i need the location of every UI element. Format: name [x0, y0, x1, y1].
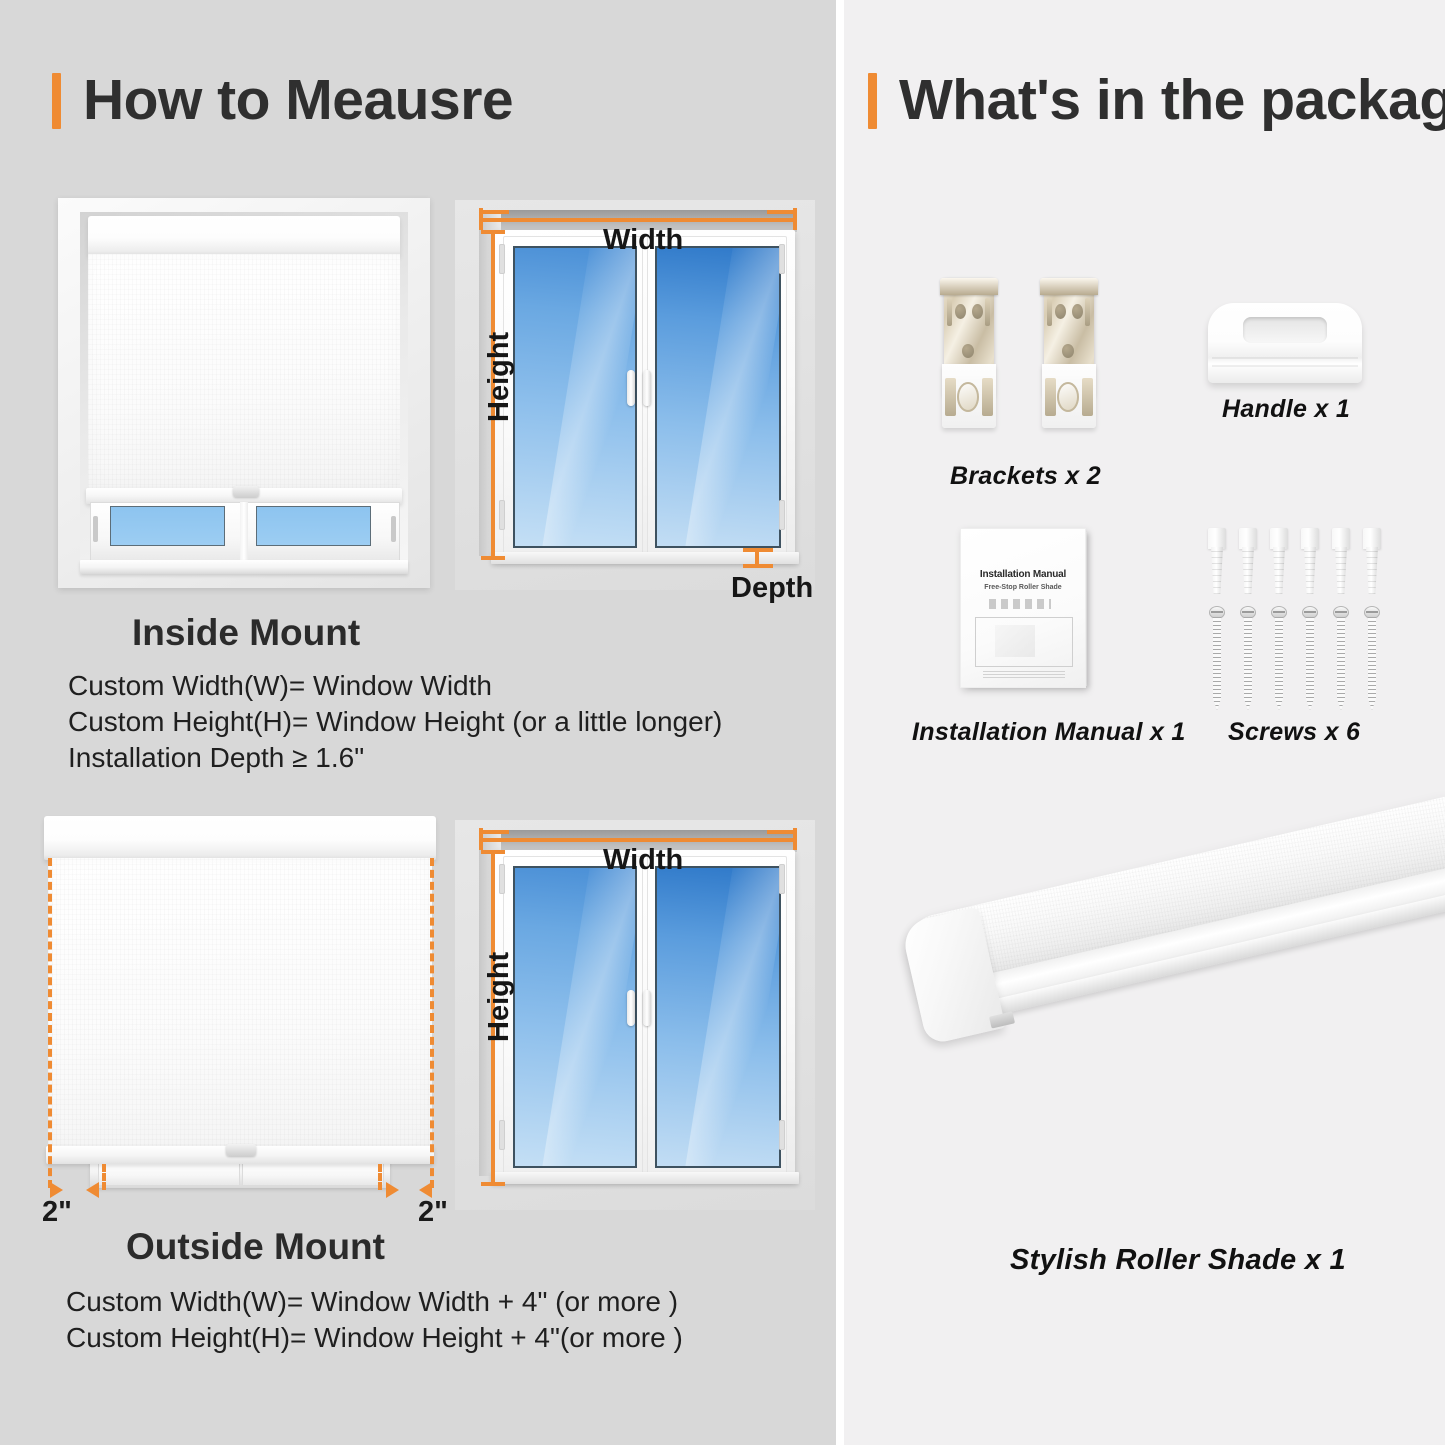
- screw-item: [1364, 606, 1380, 710]
- screw-shaft: [1368, 617, 1376, 710]
- overhang-arrow-right-in: [386, 1182, 399, 1198]
- bracket-slot: [985, 298, 990, 326]
- roller-shade-label: Stylish Roller Shade x 1: [1010, 1244, 1346, 1277]
- window-handle-right-icon: [643, 990, 651, 1026]
- inside-mount-measure-diagram: Width Height Depth: [455, 200, 815, 590]
- anchor-head: [1208, 528, 1226, 549]
- anchor-body: [1242, 547, 1254, 594]
- width-measure-tick-right: [767, 210, 797, 214]
- width-measure-tick-left: [479, 210, 509, 214]
- handle-grip-slot: [1243, 317, 1327, 343]
- bracket-top-flange: [940, 278, 998, 295]
- bracket-center-oval: [1057, 382, 1079, 412]
- width-label: Width: [603, 844, 683, 877]
- screw-shaft: [1275, 617, 1283, 710]
- window-pane-left: [513, 246, 637, 548]
- page-title-right: What's in the package: [899, 72, 1445, 129]
- height-measure-cap-bottom: [481, 556, 505, 560]
- bracket-item: [1038, 278, 1100, 430]
- shade-pull-handle: [233, 486, 259, 497]
- window-sill: [491, 1172, 799, 1184]
- shade-fabric: [48, 858, 432, 1150]
- overhang-label-right: 2": [418, 1196, 448, 1229]
- height-label: Height: [483, 952, 516, 1042]
- wall-anchor-item: [1363, 528, 1381, 594]
- bracket-slot: [1085, 298, 1090, 326]
- panel-divider: [836, 0, 844, 1445]
- handle-seam: [1212, 365, 1358, 367]
- height-measure-cap-top: [481, 230, 505, 234]
- overhang-dashed-left: [48, 858, 52, 1188]
- outside-mount-title: Outside Mount: [126, 1226, 385, 1268]
- outside-mount-shade-illustration: [38, 812, 442, 1202]
- width-measure-tick-left: [479, 830, 509, 834]
- wall-anchor-item: [1239, 528, 1257, 594]
- manual-cover-figure: [995, 625, 1035, 657]
- window-hinge-icon: [499, 500, 505, 530]
- screw-item: [1302, 606, 1318, 710]
- anchor-head: [1239, 528, 1257, 549]
- bracket-item: [938, 278, 1000, 430]
- window-hinge-icon: [499, 1120, 505, 1150]
- roller-shade-item: [898, 880, 1438, 1220]
- window-handle-right-icon: [643, 370, 651, 406]
- overhang-label-left: 2": [42, 1196, 72, 1229]
- bracket-rib: [1045, 378, 1056, 416]
- bracket-hole: [962, 344, 974, 358]
- window-handle-left-icon: [627, 370, 635, 406]
- screw-item: [1209, 606, 1225, 710]
- wall-anchor-item: [1301, 528, 1319, 594]
- screw-item: [1240, 606, 1256, 710]
- anchor-head: [1363, 528, 1381, 549]
- width-label: Width: [603, 224, 683, 257]
- window-hinge-left-icon: [93, 516, 98, 542]
- width-measure-line: [479, 218, 797, 222]
- inside-mount-line-2: Custom Height(H)= Window Height (or a li…: [68, 706, 722, 738]
- package-contents-heading: What's in the package: [868, 72, 1445, 129]
- shade-pull-handle: [226, 1144, 256, 1156]
- anchor-body: [1304, 547, 1316, 594]
- window-handle-left-icon: [627, 990, 635, 1026]
- window-sill: [491, 552, 799, 564]
- bracket-rib: [1082, 378, 1093, 416]
- screw-shaft: [1244, 617, 1252, 710]
- height-measure-cap-top: [481, 850, 505, 854]
- bracket-rib: [945, 378, 956, 416]
- window-hinge-icon: [499, 864, 505, 894]
- window-pane-right: [655, 246, 781, 548]
- window-mullion: [240, 502, 248, 564]
- outside-mount-line-2: Custom Height(H)= Window Height + 4"(or …: [66, 1322, 683, 1354]
- overhang-ref-right: [378, 1164, 382, 1190]
- shade-valance: [44, 816, 436, 860]
- window-hinge-icon: [779, 864, 785, 894]
- wall-anchor-item: [1208, 528, 1226, 594]
- manual-cover-subtitle: Free-Stop Roller Shade: [961, 584, 1085, 591]
- inside-mount-title: Inside Mount: [132, 612, 360, 654]
- anchor-head: [1301, 528, 1319, 549]
- depth-measure-base: [743, 564, 773, 568]
- bracket-center-oval: [957, 382, 979, 412]
- window-glass-left: [110, 506, 225, 546]
- anchor-body: [1273, 547, 1285, 594]
- anchor-body: [1366, 547, 1378, 594]
- how-to-measure-heading: How to Meausre: [52, 72, 513, 129]
- inside-mount-line-3: Installation Depth ≥ 1.6": [68, 742, 364, 774]
- accent-bar-icon: [868, 73, 877, 129]
- bracket-top-flange: [1040, 278, 1098, 295]
- installation-manual-item: Installation Manual Free-Stop Roller Sha…: [960, 528, 1100, 696]
- bracket-hole: [1072, 304, 1083, 319]
- height-label: Height: [483, 332, 516, 422]
- anchor-body: [1335, 547, 1347, 594]
- window-hinge-icon: [779, 500, 785, 530]
- brackets-label: Brackets x 2: [950, 462, 1101, 491]
- depth-label: Depth: [731, 572, 813, 605]
- manual-cover: Installation Manual Free-Stop Roller Sha…: [960, 528, 1086, 688]
- infographic-page: How to Meausre What's in the package: [0, 0, 1445, 1445]
- screws-label: Screws x 6: [1228, 718, 1360, 747]
- window-hinge-right-icon: [391, 516, 396, 542]
- screw-item: [1333, 606, 1349, 710]
- window-hinge-icon: [779, 244, 785, 274]
- manual-cover-title: Installation Manual: [961, 569, 1085, 580]
- height-measure-cap-bottom: [481, 1182, 505, 1186]
- overhang-ref-left: [102, 1164, 106, 1190]
- accent-bar-icon: [52, 73, 61, 129]
- window-sill: [80, 560, 408, 574]
- width-measure-line: [479, 838, 797, 842]
- screw-shaft: [1213, 617, 1221, 710]
- screw-shaft: [1306, 617, 1314, 710]
- inside-mount-shade-illustration: [58, 198, 430, 588]
- overhang-arrow-left-in: [86, 1182, 99, 1198]
- window-pane-left: [513, 866, 637, 1168]
- window-pane-right: [655, 866, 781, 1168]
- anchor-body: [1211, 547, 1223, 594]
- handle-item: [1208, 303, 1362, 383]
- outside-mount-line-1: Custom Width(W)= Window Width + 4" (or m…: [66, 1286, 678, 1318]
- bracket-slot: [947, 298, 952, 326]
- bracket-hole: [1055, 304, 1066, 319]
- wall-anchor-item: [1270, 528, 1288, 594]
- inside-mount-line-1: Custom Width(W)= Window Width: [68, 670, 492, 702]
- shade-valance: [88, 216, 400, 256]
- bracket-hole: [955, 304, 966, 319]
- anchor-head: [1270, 528, 1288, 549]
- bracket-hole: [1062, 344, 1074, 358]
- window-hinge-icon: [779, 1120, 785, 1150]
- handle-label: Handle x 1: [1222, 395, 1350, 424]
- screw-shaft: [1337, 617, 1345, 710]
- anchor-head: [1332, 528, 1350, 549]
- page-title-left: How to Meausre: [83, 72, 513, 129]
- manual-cover-scribble: [989, 599, 1051, 609]
- window-hinge-icon: [499, 244, 505, 274]
- wall-anchor-item: [1332, 528, 1350, 594]
- width-measure-tick-right: [767, 830, 797, 834]
- screw-item: [1271, 606, 1287, 710]
- overhang-dashed-right: [430, 858, 434, 1188]
- outside-mount-measure-diagram: Width Height: [455, 820, 815, 1210]
- screws-group: [1208, 528, 1388, 698]
- bracket-rib: [982, 378, 993, 416]
- shade-fabric: [88, 254, 400, 490]
- handle-seam: [1212, 357, 1358, 359]
- window-glass-right: [256, 506, 371, 546]
- bracket-hole: [972, 304, 983, 319]
- bracket-slot: [1047, 298, 1052, 326]
- manual-cover-footer-lines: [983, 671, 1065, 678]
- installation-manual-label: Installation Manual x 1: [912, 718, 1186, 747]
